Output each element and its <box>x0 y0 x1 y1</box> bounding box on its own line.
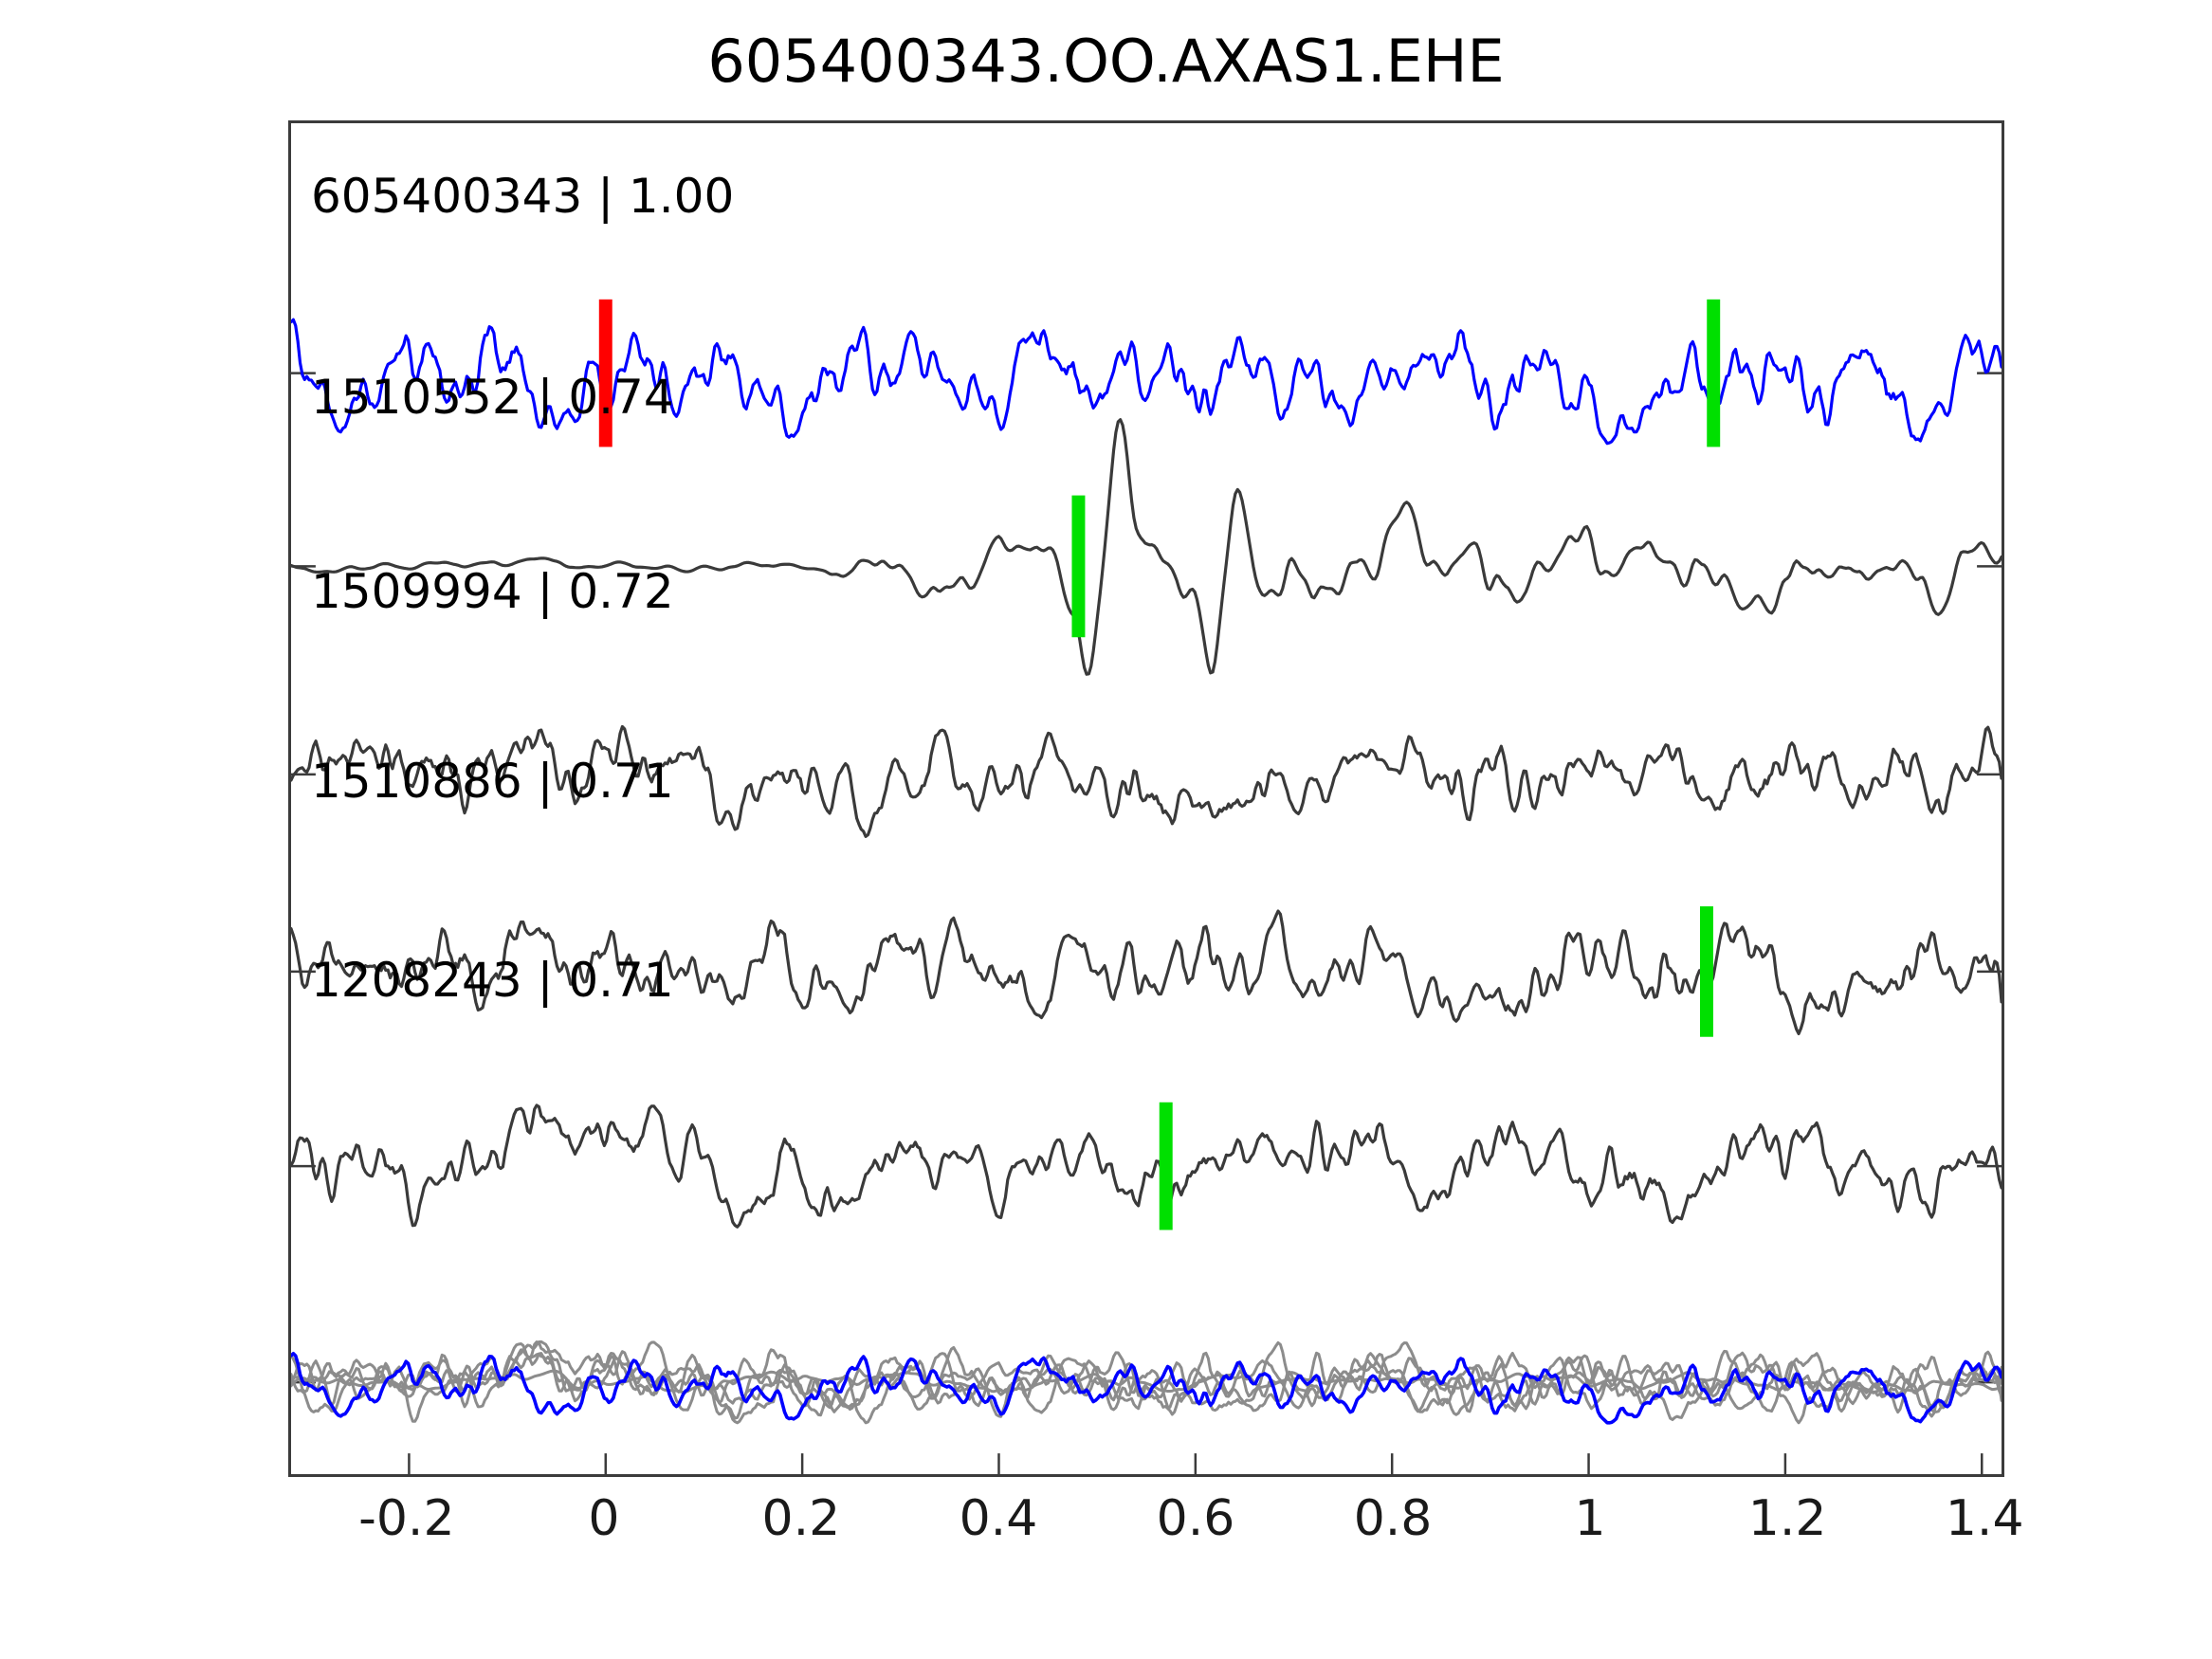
pick-marker-red <box>599 300 612 447</box>
waveform-trace-1509994 <box>291 727 2002 837</box>
waveform-canvas <box>291 123 2002 1474</box>
x-tick-label-3: 0.4 <box>960 1490 1038 1547</box>
x-tick-label-0: -0.2 <box>358 1490 454 1547</box>
plot-axes <box>288 120 2004 1477</box>
x-tick-label-2: 0.2 <box>762 1490 841 1547</box>
waveform-trace-1510886 <box>291 911 2002 1033</box>
waveform-trace-1510552 <box>291 420 2002 675</box>
waveform-figure: 605400343.OO.AXAS1.EHE 605400343 | 1.001… <box>0 0 2212 1659</box>
pick-marker-green <box>1707 300 1720 447</box>
waveform-trace-1208243 <box>291 1105 2002 1227</box>
x-tick-label-6: 1 <box>1575 1490 1606 1547</box>
x-tick-label-1: 0 <box>588 1490 619 1547</box>
x-tick-label-7: 1.2 <box>1748 1490 1827 1547</box>
x-tick-label-8: 1.4 <box>1946 1490 2024 1547</box>
page-title: 605400343.OO.AXAS1.EHE <box>0 27 2212 96</box>
pick-marker-green <box>1160 1103 1173 1231</box>
pick-marker-green <box>1700 906 1713 1037</box>
x-tick-label-4: 0.6 <box>1157 1490 1235 1547</box>
x-axis-tick-labels: -0.200.20.40.60.811.21.4 <box>288 1490 2004 1566</box>
waveform-trace-605400343 <box>291 319 2002 444</box>
x-tick-label-5: 0.8 <box>1354 1490 1433 1547</box>
pick-marker-green <box>1071 496 1085 638</box>
